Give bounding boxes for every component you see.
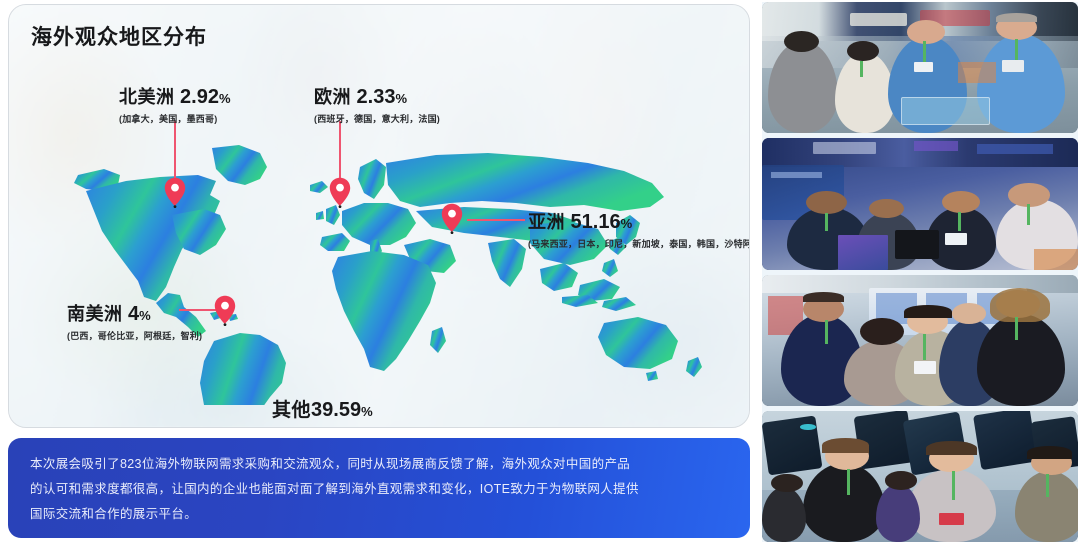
map-pin-europe-icon[interactable] [329,177,351,208]
region-value-other: 39.59 [311,399,361,421]
region-countries-europe: (西班牙，德国，意大利，法国) [314,112,440,125]
region-value-north-america: 2.92 [180,86,219,108]
expo-photo-4-scene [762,411,1078,542]
region-pct-north-america: % [219,91,231,106]
map-pin-south-america-icon[interactable] [214,295,236,326]
region-name-other: 其他 [272,400,311,421]
region-value-south-america: 4 [128,303,139,325]
summary-caption-box: 本次展会吸引了823位海外物联网需求采购和交流观众，同时从现场展商反馈了解，海外… [8,438,750,538]
expo-photo-3[interactable] [762,275,1078,406]
region-name-north-america: 北美洲 [119,87,175,107]
region-main-other: 其他39.59% [272,395,373,422]
region-value-europe: 2.33 [357,86,396,108]
region-value-asia: 51.16 [571,211,621,233]
region-main-asia: 亚洲 51.16% [528,208,750,234]
connector-line-north-america [174,121,176,183]
region-countries-north-america: (加拿大，美国，墨西哥) [119,112,231,125]
page-title: 海外观众地区分布 [31,21,207,51]
map-panel: 海外观众地区分布 [8,4,750,428]
region-countries-asia: (马来西亚，日本，印尼，新加坡，泰国，韩国，沙特阿拉伯) [528,237,750,250]
expo-photo-2[interactable] [762,138,1078,269]
map-pin-north-america-icon[interactable] [164,177,186,208]
connector-line-asia [467,219,525,221]
expo-photo-1-scene [762,2,1078,133]
region-pct-south-america: % [139,308,151,323]
expo-photo-4[interactable] [762,411,1078,542]
overseas-visitor-distribution-slide: 海外观众地区分布 [0,0,1080,543]
expo-photo-1[interactable] [762,2,1078,133]
region-countries-south-america: (巴西，哥伦比亚，阿根廷，智利) [67,329,202,342]
region-pct-asia: % [621,216,633,231]
left-column: 海外观众地区分布 [0,0,757,543]
region-label-asia: 亚洲 51.16% (马来西亚，日本，印尼，新加坡，泰国，韩国，沙特阿拉伯) [528,208,750,250]
connector-line-europe [339,121,341,183]
expo-photo-2-scene [762,138,1078,269]
region-label-other: 其他39.59% [272,395,373,422]
photo-gallery-column [762,2,1078,542]
caption-line-1: 本次展会吸引了823位海外物联网需求采购和交流观众，同时从现场展商反馈了解，海外… [30,452,728,477]
region-pct-other: % [361,404,373,419]
region-pct-europe: % [395,91,407,106]
expo-photo-3-scene [762,275,1078,406]
region-main-europe: 欧洲 2.33% [314,83,440,109]
region-label-north-america: 北美洲 2.92% (加拿大，美国，墨西哥) [119,83,231,125]
world-map [64,145,704,405]
caption-line-3: 国际交流和合作的展示平台。 [30,502,728,527]
caption-line-2: 的认可和需求度都很高，让国内的企业也能面对面了解到海外直观需求和变化，IOTE致… [30,477,728,502]
region-name-south-america: 南美洲 [67,304,123,324]
map-pin-asia-icon[interactable] [441,203,463,234]
region-label-europe: 欧洲 2.33% (西班牙，德国，意大利，法国) [314,83,440,125]
region-name-asia: 亚洲 [528,212,565,232]
region-main-south-america: 南美洲 4% [67,300,202,326]
region-main-north-america: 北美洲 2.92% [119,83,231,109]
region-label-south-america: 南美洲 4% (巴西，哥伦比亚，阿根廷，智利) [67,300,202,342]
region-name-europe: 欧洲 [314,87,351,107]
